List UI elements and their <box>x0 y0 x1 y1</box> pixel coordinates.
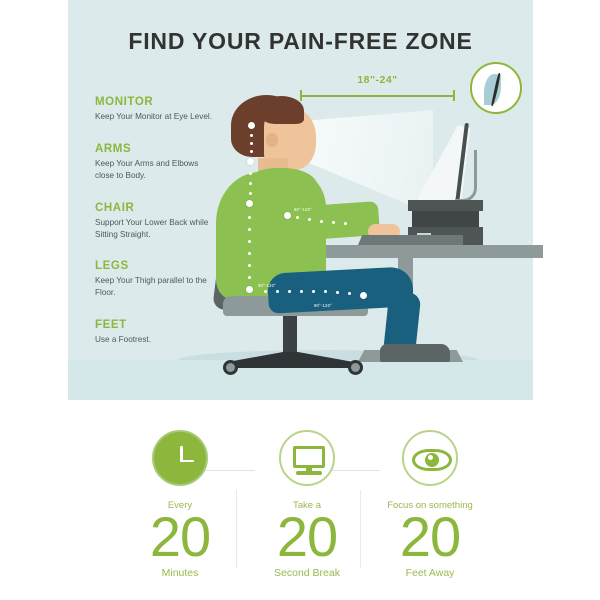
tip-body: Keep Your Monitor at Eye Level. <box>95 111 215 123</box>
elbow-angle-label: 90°-120° <box>294 207 312 212</box>
monitor-riser-top <box>408 200 483 211</box>
ear <box>266 133 278 147</box>
rule-column-focus: Focus on something 20 Feet Away <box>355 412 505 579</box>
tip-heading: LEGS <box>95 260 215 272</box>
posture-node-hip <box>246 286 253 293</box>
tip-heading: CHAIR <box>95 202 215 214</box>
tip-feet: FEET Use a Footrest. <box>95 319 215 346</box>
posture-node-elbow <box>284 212 291 219</box>
monitor-riser-body <box>412 211 479 227</box>
tips-list: MONITOR Keep Your Monitor at Eye Level. … <box>95 96 215 366</box>
tip-chair: CHAIR Support Your Lower Back while Sitt… <box>95 202 215 241</box>
keyboard <box>358 235 463 245</box>
knee-angle-label: 90°-120° <box>314 303 332 308</box>
measure-bar <box>300 95 455 97</box>
eye-icon <box>402 430 458 486</box>
tip-arms: ARMS Keep Your Arms and Elbows close to … <box>95 143 215 182</box>
monitor-distance-measure: 18"-24" <box>300 88 455 102</box>
tip-heading: ARMS <box>95 143 215 155</box>
monitor-stand <box>455 150 477 202</box>
tip-body: Support Your Lower Back while Sitting St… <box>95 217 215 241</box>
head-hair-front <box>260 96 304 124</box>
measure-cap-left <box>300 90 302 101</box>
posture-node-shoulder <box>246 200 253 207</box>
hip-angle-label: 90°-120° <box>258 283 276 288</box>
desk-surface <box>313 245 543 258</box>
chair-caster-left <box>223 360 238 375</box>
rule-number: 20 <box>355 509 505 565</box>
tip-heading: FEET <box>95 319 215 331</box>
spine-posture-icon <box>470 62 522 114</box>
posture-node-head <box>248 122 255 129</box>
tip-monitor: MONITOR Keep Your Monitor at Eye Level. <box>95 96 215 123</box>
monitor-distance-label: 18"-24" <box>300 74 455 86</box>
clock-icon <box>152 430 208 486</box>
measure-cap-right <box>453 90 455 101</box>
posture-node-neck <box>247 158 254 165</box>
shoe <box>380 344 450 362</box>
tip-body: Use a Footrest. <box>95 334 215 346</box>
posture-node-knee <box>360 292 367 299</box>
chair-caster-right <box>348 360 363 375</box>
tip-body: Keep Your Thigh parallel to the Floor. <box>95 275 215 299</box>
twenty-rule-section: Every 20 Minutes Take a 20 Second Break … <box>0 412 600 600</box>
tip-legs: LEGS Keep Your Thigh parallel to the Flo… <box>95 260 215 299</box>
tip-body: Keep Your Arms and Elbows close to Body. <box>95 158 215 182</box>
monitor-icon <box>279 430 335 486</box>
infographic-root: FIND YOUR PAIN-FREE ZONE <box>0 0 600 600</box>
shoulder <box>246 168 318 208</box>
tip-heading: MONITOR <box>95 96 215 108</box>
rule-subtitle: Feet Away <box>355 567 505 579</box>
